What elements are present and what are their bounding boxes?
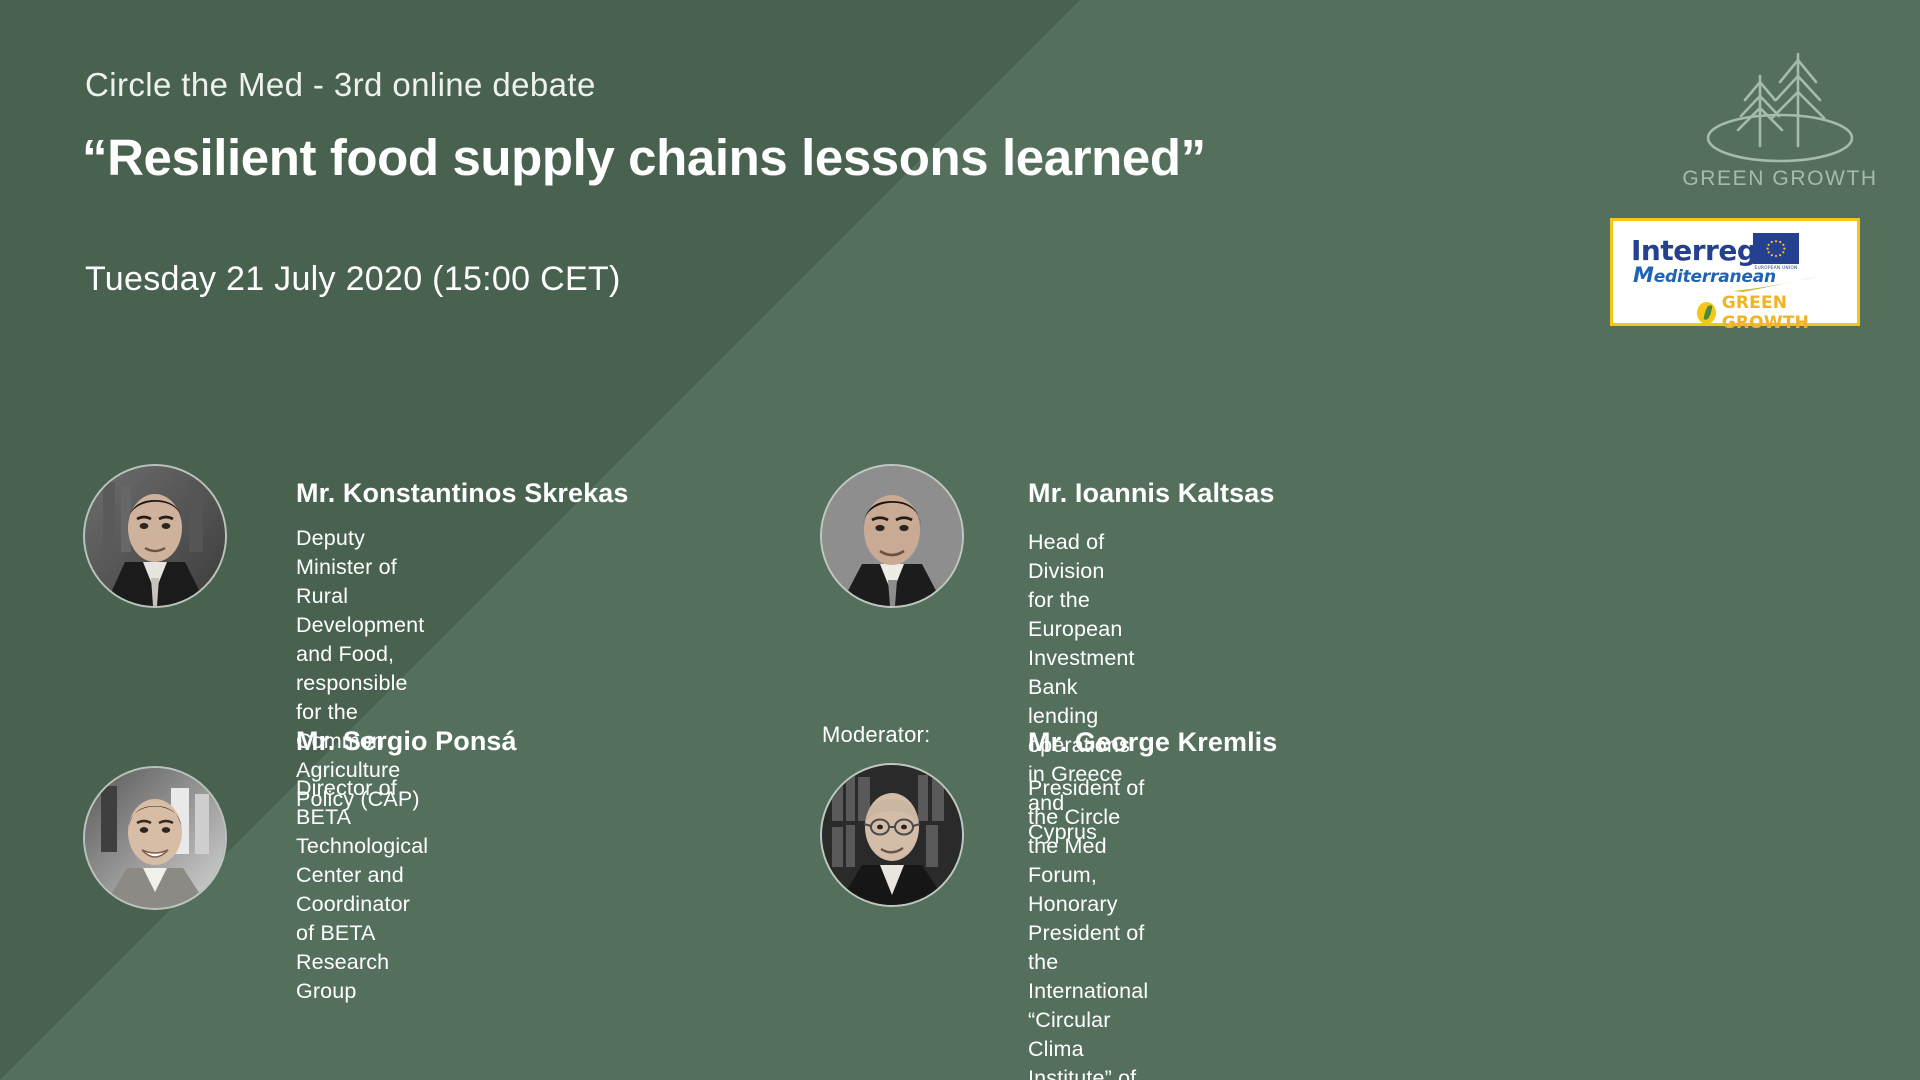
speaker-role: President of the Circle the Med Forum, H… xyxy=(1028,774,1152,1080)
moderator-label: Moderator: xyxy=(822,722,930,748)
speaker-name: Mr. Konstantinos Skrekas xyxy=(296,478,629,509)
speaker-name: Mr. George Kremlis xyxy=(1028,727,1277,758)
interreg-green-growth-label: GREEN GROWTH xyxy=(1722,293,1857,333)
speaker-role: Deputy Minister of Rural Development and… xyxy=(296,524,424,814)
event-datetime: Tuesday 21 July 2020 (15:00 CET) xyxy=(85,260,621,299)
speaker-role: Director of BETA Technological Center an… xyxy=(296,774,428,1006)
leaf-icon xyxy=(1697,302,1716,324)
event-poster: Circle the Med - 3rd online debate “Resi… xyxy=(0,0,1920,1080)
green-growth-label: GREEN GROWTH xyxy=(1672,167,1888,191)
event-kicker: Circle the Med - 3rd online debate xyxy=(85,66,596,104)
eu-flag-icon xyxy=(1753,233,1799,264)
avatar xyxy=(822,466,962,606)
interreg-swoosh-icon xyxy=(1731,271,1843,293)
avatar xyxy=(85,466,225,606)
avatar xyxy=(85,768,225,908)
speaker-name: Mr. Sergio Ponsá xyxy=(296,726,517,757)
interreg-green-growth-row: GREEN GROWTH xyxy=(1697,293,1857,333)
speaker-name: Mr. Ioannis Kaltsas xyxy=(1028,478,1274,509)
avatar xyxy=(822,765,962,905)
event-headline: “Resilient food supply chains lessons le… xyxy=(82,128,1206,187)
green-growth-trees-icon xyxy=(1690,38,1870,183)
interreg-med-initial: M xyxy=(1633,263,1654,287)
interreg-mediterranean-logo: Interreg Mediterranean xyxy=(1610,218,1860,326)
